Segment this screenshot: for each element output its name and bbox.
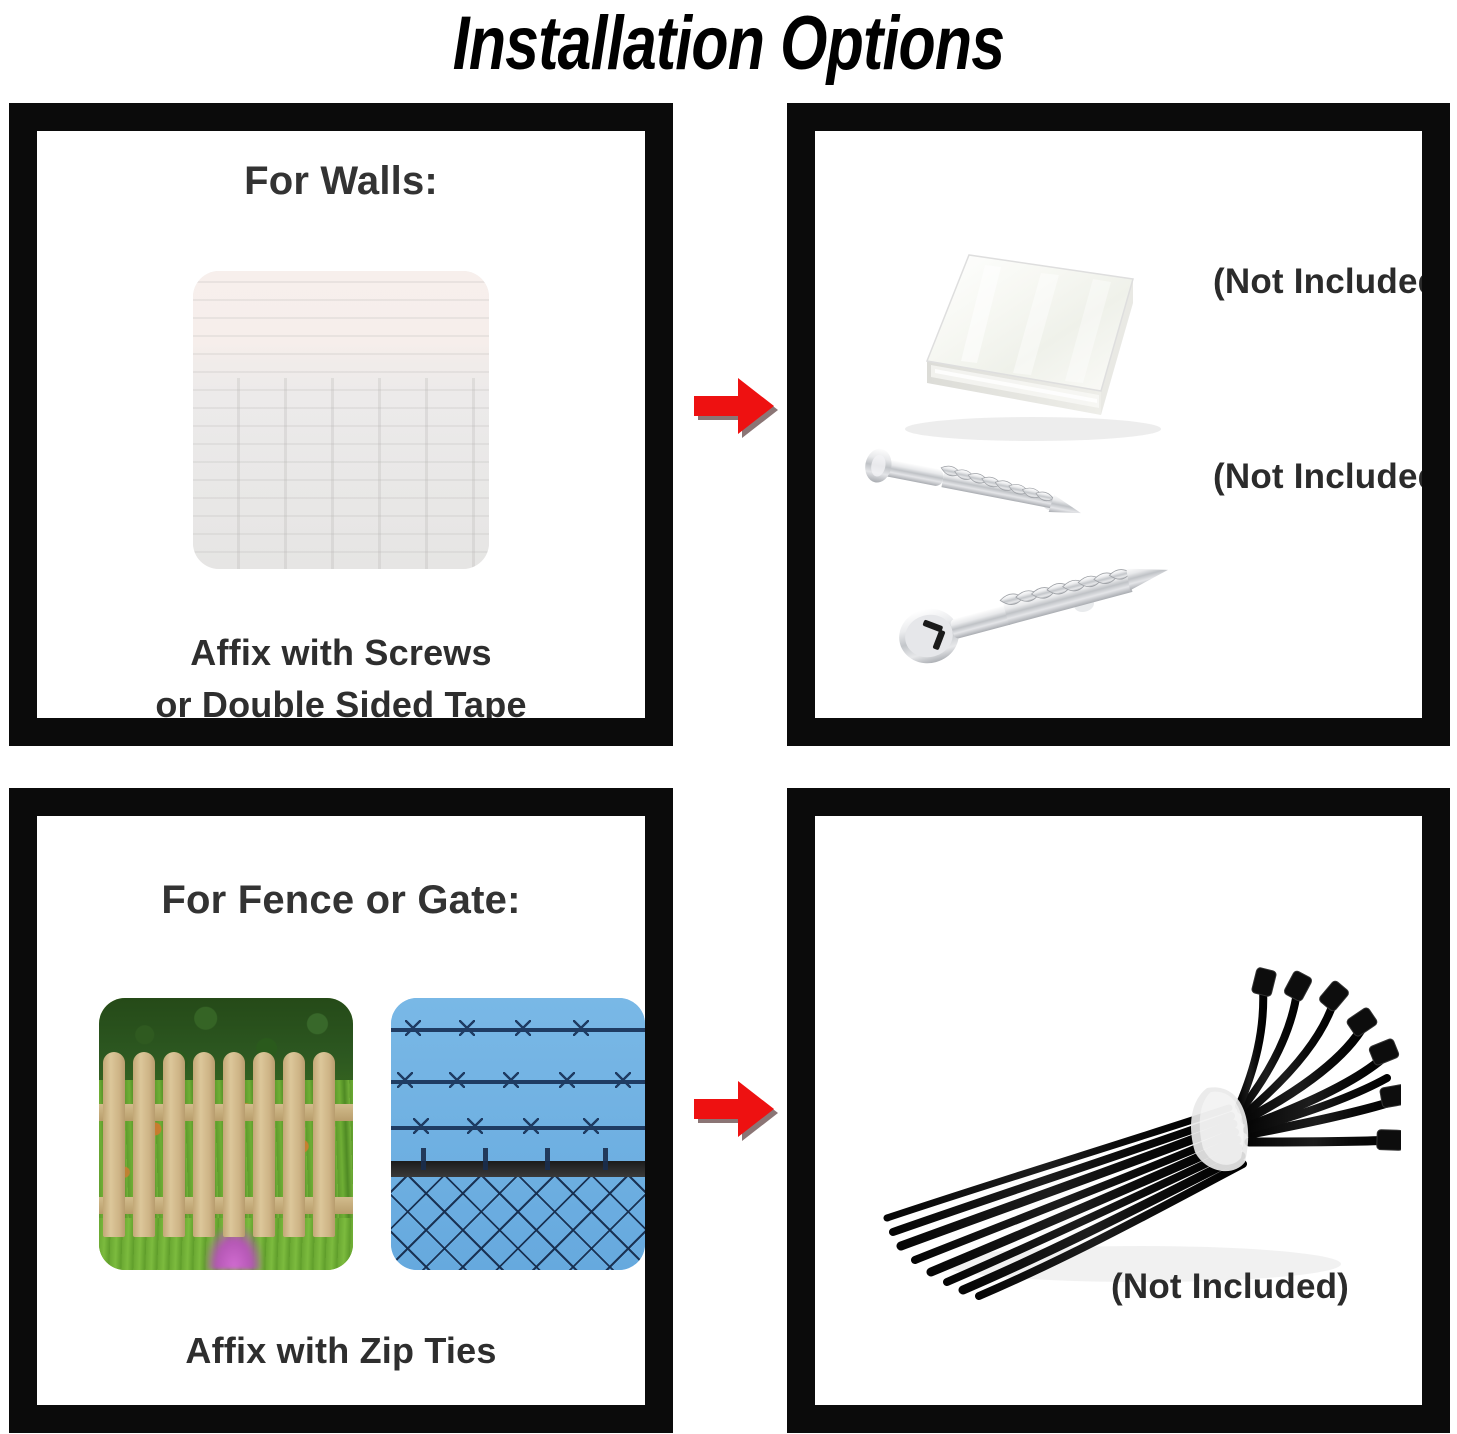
for-fence-caption: Affix with Zip Ties — [37, 1328, 645, 1374]
panel-wall-hardware: (Not Included) — [787, 103, 1450, 746]
page-title: Installation Options — [146, 0, 1312, 90]
chain-link-barbed-wire-photo — [391, 998, 645, 1270]
panel-wall-hardware-content: (Not Included) — [815, 131, 1422, 718]
panel-fence-hardware: (Not Included) — [787, 788, 1450, 1433]
panel-for-fence-or-gate-content: For Fence or Gate: — [37, 816, 645, 1405]
panel-for-walls: For Walls: Affix with Screws or Double S… — [9, 103, 673, 746]
wooden-picket-fence-photo — [99, 998, 353, 1270]
screws — [835, 431, 1195, 681]
for-walls-caption-line2: or Double Sided Tape — [37, 682, 645, 718]
for-fence-or-gate-heading: For Fence or Gate: — [37, 876, 645, 924]
for-walls-caption-line1: Affix with Screws — [37, 630, 645, 676]
barbed-wire-scene — [391, 998, 645, 1270]
panel-fence-hardware-content: (Not Included) — [815, 816, 1422, 1405]
arrow-walls-to-hardware — [690, 372, 780, 442]
double-sided-tape-stack — [865, 243, 1185, 443]
installation-options-infographic: Installation Options For Walls: Affix wi… — [0, 0, 1457, 1434]
white-brick-wall-photo — [193, 271, 489, 569]
tape-not-included-note: (Not Included) — [1213, 261, 1422, 303]
arrow-fence-to-hardware — [690, 1075, 780, 1145]
for-walls-heading: For Walls: — [37, 157, 645, 205]
ziptie-not-included-note: (Not Included) — [1111, 1266, 1349, 1308]
screws-not-included-note: (Not Included) — [1213, 456, 1422, 498]
pickets — [99, 1052, 353, 1237]
panel-for-fence-or-gate: For Fence or Gate: — [9, 788, 673, 1433]
picket-fence-scene — [99, 998, 353, 1270]
panel-for-walls-content: For Walls: Affix with Screws or Double S… — [37, 131, 645, 718]
white-brick-wall-texture — [193, 271, 489, 569]
chain-link-mesh — [391, 1177, 645, 1270]
